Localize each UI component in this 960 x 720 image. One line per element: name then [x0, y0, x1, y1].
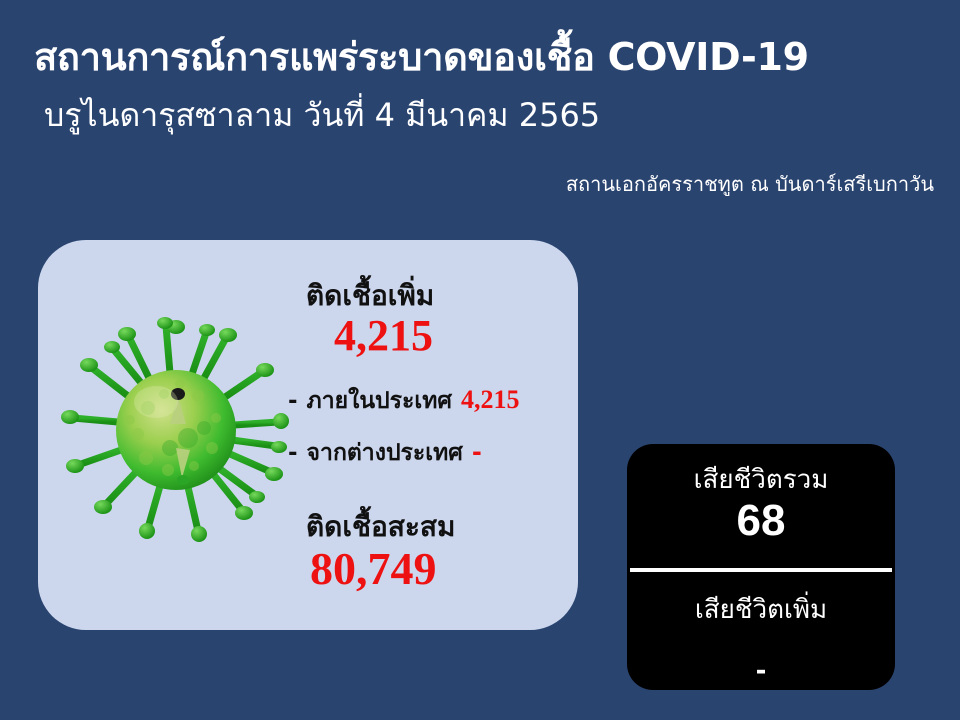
new-deaths-value: - — [756, 658, 767, 684]
page-subtitle: บรูไนดารุสซาลาม วันที่ 4 มีนาคม 2565 — [44, 96, 600, 134]
bullet-dash: - — [288, 440, 298, 466]
deaths-box: เสียชีวิตรวม 68 เสียชีวิตเพิ่ม - — [627, 444, 895, 690]
new-deaths-section: เสียชีวิตเพิ่ม - — [627, 572, 895, 690]
local-cases-label: ภายในประเทศ — [307, 383, 452, 419]
list-item: - ภายในประเทศ 4,215 — [288, 383, 578, 419]
total-cases-value: 80,749 — [310, 546, 437, 592]
total-deaths-value: 68 — [737, 498, 786, 544]
new-deaths-label: เสียชีวิตเพิ่ม — [695, 596, 827, 626]
cases-card: ติดเชื้อเพิ่ม 4,215 - ภายในประเทศ 4,215 … — [38, 240, 578, 630]
page-title: สถานการณ์การแพร่ระบาดของเชื้อ COVID-19 — [34, 36, 809, 80]
imported-cases-label: จากต่างประเทศ — [307, 435, 463, 471]
imported-cases-value: - — [472, 438, 482, 466]
new-cases-value: 4,215 — [334, 314, 433, 358]
total-deaths-section: เสียชีวิตรวม 68 — [627, 444, 895, 568]
cases-text-column: ติดเชื้อเพิ่ม 4,215 - ภายในประเทศ 4,215 … — [268, 258, 568, 618]
cases-breakdown-list: - ภายในประเทศ 4,215 - จากต่างประเทศ - — [288, 383, 578, 487]
list-item: - จากต่างประเทศ - — [288, 435, 578, 471]
header: สถานการณ์การแพร่ระบาดของเชื้อ COVID-19 บ… — [0, 0, 960, 215]
coronavirus-icon — [56, 295, 296, 555]
slide-root: สถานการณ์การแพร่ระบาดของเชื้อ COVID-19 บ… — [0, 0, 960, 720]
local-cases-value: 4,215 — [461, 385, 520, 415]
bullet-dash: - — [288, 388, 298, 414]
embassy-attribution: สถานเอกอัครราชทูต ณ บันดาร์เสรีเบกาวัน — [566, 168, 934, 200]
total-deaths-label: เสียชีวิตรวม — [694, 466, 829, 496]
